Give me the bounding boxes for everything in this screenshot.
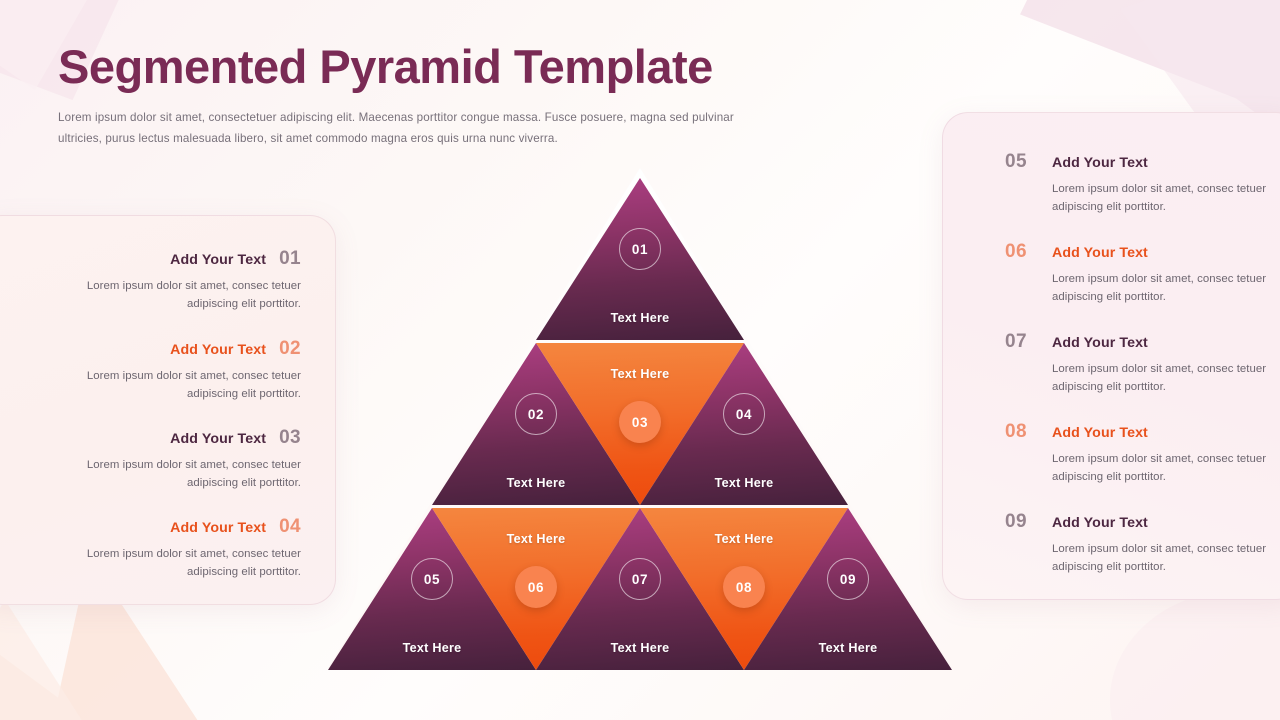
item-header: Add Your Text 09: [1005, 511, 1267, 533]
segment-number-badge: 01: [619, 228, 661, 270]
item-header: Add Your Text 07: [1005, 331, 1267, 353]
item-title: Add Your Text: [170, 252, 266, 268]
segment-number-badge: 06: [515, 566, 557, 608]
item-header: Add Your Text 02: [33, 338, 301, 360]
item-title: Add Your Text: [1052, 425, 1148, 441]
item-number: 01: [279, 248, 301, 270]
item-number: 09: [1005, 511, 1039, 533]
page-title: Segmented Pyramid Template: [58, 40, 818, 94]
list-item-04[interactable]: Add Your Text 04 Lorem ipsum dolor sit a…: [33, 516, 301, 582]
item-description: Lorem ipsum dolor sit amet, consec tetue…: [1052, 360, 1267, 397]
item-description: Lorem ipsum dolor sit amet, consec tetue…: [33, 545, 301, 582]
item-number: 02: [279, 338, 301, 360]
list-item-03[interactable]: Add Your Text 03 Lorem ipsum dolor sit a…: [33, 427, 301, 493]
pyramid-segment-01[interactable]: 01 Text Here: [536, 178, 744, 340]
item-title: Add Your Text: [170, 520, 266, 536]
item-number: 05: [1005, 151, 1039, 173]
item-title: Add Your Text: [1052, 515, 1148, 531]
segment-label: Text Here: [507, 476, 566, 490]
list-item-06[interactable]: Add Your Text 06 Lorem ipsum dolor sit a…: [1005, 241, 1267, 307]
item-number: 04: [279, 516, 301, 538]
list-item-02[interactable]: Add Your Text 02 Lorem ipsum dolor sit a…: [33, 338, 301, 404]
item-number: 03: [279, 427, 301, 449]
segment-number-badge: 08: [723, 566, 765, 608]
item-header: Add Your Text 08: [1005, 421, 1267, 443]
item-description: Lorem ipsum dolor sit amet, consec tetue…: [33, 367, 301, 404]
item-description: Lorem ipsum dolor sit amet, consec tetue…: [1052, 540, 1267, 577]
item-header: Add Your Text 04: [33, 516, 301, 538]
right-items-panel: Add Your Text 05 Lorem ipsum dolor sit a…: [942, 112, 1280, 600]
segment-number-badge: 04: [723, 393, 765, 435]
segmented-pyramid-diagram: 01 Text Here 02 Text Here Text Here 03 0…: [328, 168, 952, 668]
left-items-panel: Add Your Text 01 Lorem ipsum dolor sit a…: [0, 215, 336, 605]
item-header: Add Your Text 05: [1005, 151, 1267, 173]
list-item-01[interactable]: Add Your Text 01 Lorem ipsum dolor sit a…: [33, 248, 301, 314]
list-item-09[interactable]: Add Your Text 09 Lorem ipsum dolor sit a…: [1005, 511, 1267, 577]
segment-label: Text Here: [507, 532, 566, 546]
segment-number-badge: 09: [827, 558, 869, 600]
list-item-08[interactable]: Add Your Text 08 Lorem ipsum dolor sit a…: [1005, 421, 1267, 487]
item-header: Add Your Text 01: [33, 248, 301, 270]
item-header: Add Your Text 06: [1005, 241, 1267, 263]
segment-number-badge: 07: [619, 558, 661, 600]
item-title: Add Your Text: [1052, 155, 1148, 171]
segment-label: Text Here: [819, 641, 878, 655]
segment-label: Text Here: [715, 532, 774, 546]
item-header: Add Your Text 03: [33, 427, 301, 449]
item-number: 06: [1005, 241, 1039, 263]
item-title: Add Your Text: [1052, 335, 1148, 351]
list-item-07[interactable]: Add Your Text 07 Lorem ipsum dolor sit a…: [1005, 331, 1267, 397]
item-description: Lorem ipsum dolor sit amet, consec tetue…: [1052, 180, 1267, 217]
segment-number-badge: 02: [515, 393, 557, 435]
page-subtitle: Lorem ipsum dolor sit amet, consectetuer…: [58, 108, 768, 149]
item-description: Lorem ipsum dolor sit amet, consec tetue…: [33, 277, 301, 314]
list-item-05[interactable]: Add Your Text 05 Lorem ipsum dolor sit a…: [1005, 151, 1267, 217]
segment-label: Text Here: [611, 367, 670, 381]
item-title: Add Your Text: [1052, 245, 1148, 261]
header: Segmented Pyramid Template Lorem ipsum d…: [58, 40, 818, 149]
segment-label: Text Here: [715, 476, 774, 490]
item-description: Lorem ipsum dolor sit amet, consec tetue…: [1052, 270, 1267, 307]
item-title: Add Your Text: [170, 431, 266, 447]
segment-label: Text Here: [403, 641, 462, 655]
segment-number-badge: 05: [411, 558, 453, 600]
item-description: Lorem ipsum dolor sit amet, consec tetue…: [1052, 450, 1267, 487]
item-number: 07: [1005, 331, 1039, 353]
segment-label: Text Here: [611, 311, 670, 325]
item-description: Lorem ipsum dolor sit amet, consec tetue…: [33, 456, 301, 493]
item-number: 08: [1005, 421, 1039, 443]
segment-label: Text Here: [611, 641, 670, 655]
item-title: Add Your Text: [170, 342, 266, 358]
segment-number-badge: 03: [619, 401, 661, 443]
